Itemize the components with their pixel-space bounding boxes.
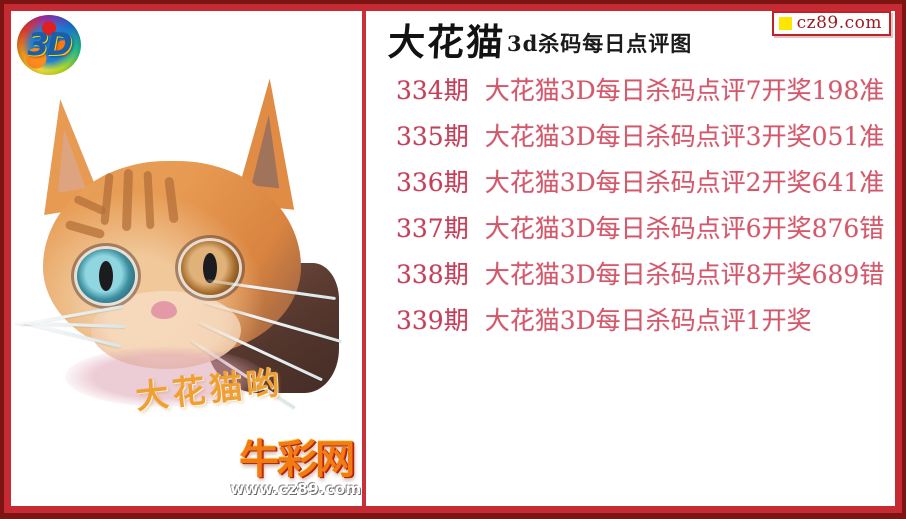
cat-nose — [151, 301, 177, 319]
badge-square-icon — [779, 17, 792, 30]
page-title-sub: 3d杀码每日点评图 — [507, 29, 692, 59]
record-issue: 338期 — [396, 255, 469, 291]
panel-divider — [362, 11, 366, 506]
list-item[interactable]: 339期大花猫3D每日杀码点评1开奖 — [366, 301, 895, 347]
record-issue: 335期 — [396, 117, 469, 153]
record-text: 大花猫3D每日杀码点评7开奖198准 — [485, 71, 885, 107]
record-text: 大花猫3D每日杀码点评2开奖641准 — [485, 163, 885, 199]
image-panel: 3D — [11, 11, 362, 506]
site-badge[interactable]: cz89.com — [772, 11, 891, 36]
poster-frame: 3D — [0, 0, 906, 519]
cat-figure — [29, 73, 345, 393]
cat-right-eye — [181, 241, 239, 295]
badge-label: cz89.com — [797, 15, 882, 32]
cat-left-eye — [77, 249, 135, 303]
list-item[interactable]: 336期大花猫3D每日杀码点评2开奖641准 — [366, 163, 895, 209]
list-panel: cz89.com 大花猫 3d杀码每日点评图 334期大花猫3D每日杀码点评7开… — [366, 11, 895, 506]
record-text: 大花猫3D每日杀码点评3开奖051准 — [485, 117, 885, 153]
page-title: 大花猫 3d杀码每日点评图 — [388, 23, 692, 61]
record-text: 大花猫3D每日杀码点评1开奖 — [485, 301, 812, 337]
list-item[interactable]: 334期大花猫3D每日杀码点评7开奖198准 — [366, 71, 895, 117]
cat-illustration — [11, 63, 362, 403]
list-item[interactable]: 335期大花猫3D每日杀码点评3开奖051准 — [366, 117, 895, 163]
site-watermark: 牛彩网 www.cz89.com — [201, 438, 362, 506]
watermark-logo-text: 牛彩网 — [201, 438, 362, 482]
record-issue: 337期 — [396, 209, 469, 245]
list-item[interactable]: 338期大花猫3D每日杀码点评8开奖689错 — [366, 255, 895, 301]
record-text: 大花猫3D每日杀码点评6开奖876错 — [485, 209, 885, 245]
record-list: 334期大花猫3D每日杀码点评7开奖198准335期大花猫3D每日杀码点评3开奖… — [366, 71, 895, 347]
watermark-url: www.cz89.com — [201, 480, 362, 498]
cat-left-pupil — [99, 261, 113, 291]
page-title-main: 大花猫 — [387, 23, 506, 61]
record-issue: 339期 — [396, 301, 469, 337]
record-issue: 336期 — [396, 163, 469, 199]
list-item[interactable]: 337期大花猫3D每日杀码点评6开奖876错 — [366, 209, 895, 255]
record-text: 大花猫3D每日杀码点评8开奖689错 — [485, 255, 885, 291]
poster-canvas: 3D — [11, 11, 895, 506]
record-issue: 334期 — [396, 71, 469, 107]
